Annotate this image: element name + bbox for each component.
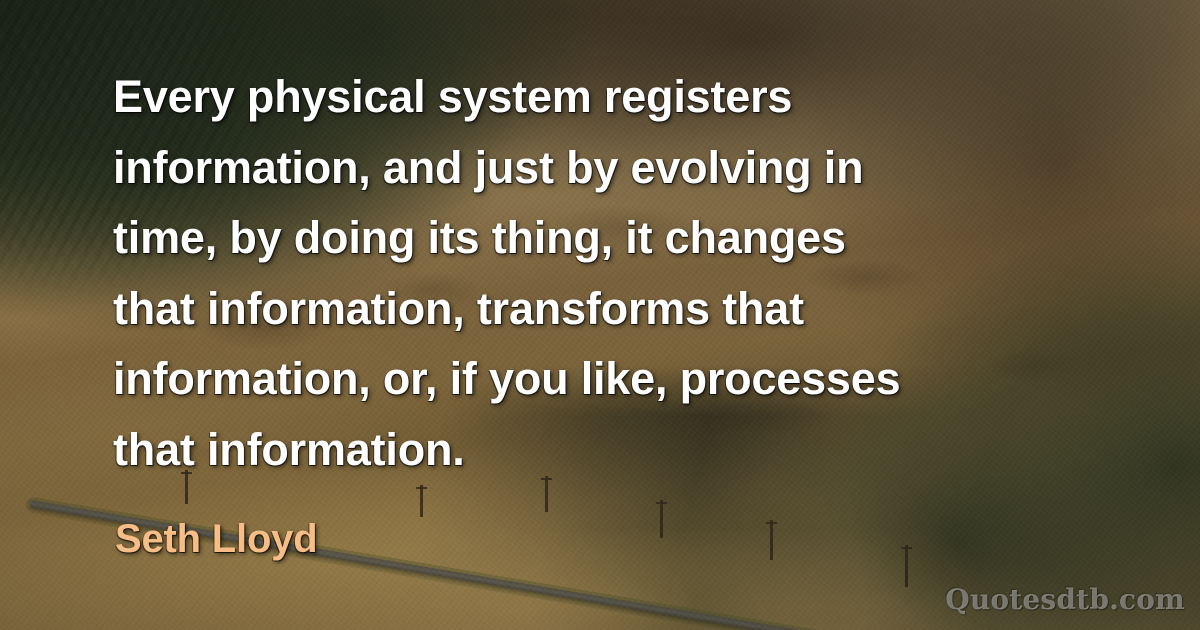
quote-content: Every physical system registers informat… — [0, 0, 1200, 630]
site-watermark: Quotesdtb.com — [945, 583, 1185, 616]
quote-text: Every physical system registers informat… — [113, 62, 1123, 485]
quote-card: Every physical system registers informat… — [0, 0, 1200, 630]
quote-author: Seth Lloyd — [115, 517, 317, 562]
